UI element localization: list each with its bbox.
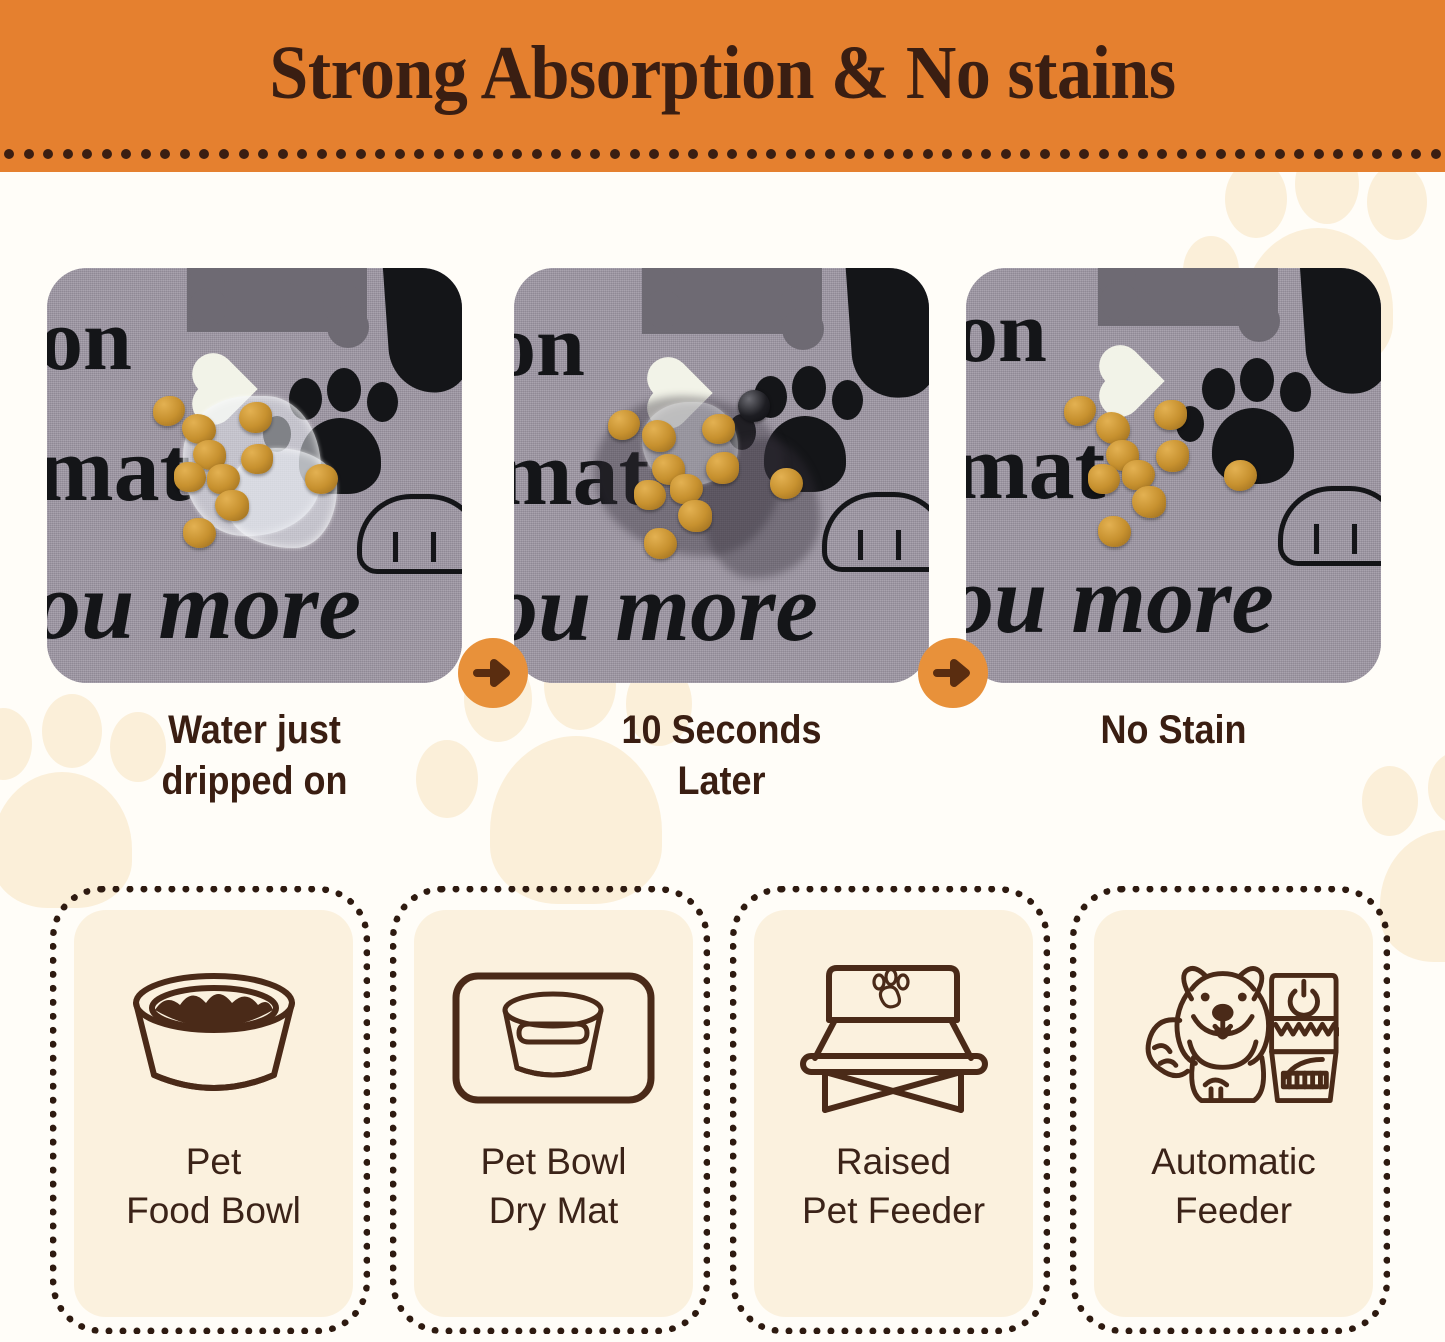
- header-divider-dot: [1411, 149, 1421, 159]
- header-divider-dot: [317, 149, 327, 159]
- header-divider-dot: [630, 149, 640, 159]
- header-divider-dot: [1060, 149, 1070, 159]
- header-divider-dot: [1392, 149, 1402, 159]
- header-divider-dot: [219, 149, 229, 159]
- header-divider-dot: [336, 149, 346, 159]
- kibble-piece: [1156, 440, 1189, 472]
- header-divider-dot: [473, 149, 483, 159]
- kibble-piece: [239, 402, 272, 433]
- step-arrow-icon: [458, 638, 528, 708]
- header-divider-dot: [1353, 149, 1363, 159]
- header-divider-dot: [571, 149, 581, 159]
- dog-with-feeder-icon: [1129, 952, 1339, 1124]
- header-divider-dot: [610, 149, 620, 159]
- header-divider-dot: [747, 149, 757, 159]
- header-divider-dot: [669, 149, 679, 159]
- header-divider-dot: [239, 149, 249, 159]
- header-divider-dot: [766, 149, 776, 159]
- kibble-piece: [1224, 460, 1257, 491]
- kibble-piece: [644, 528, 677, 559]
- kibble-piece: [1132, 486, 1166, 518]
- kibble-piece: [706, 452, 739, 484]
- feature-card-panel: Pet Food Bowl: [74, 910, 353, 1317]
- header-divider-dot: [1040, 149, 1050, 159]
- header-banner: Strong Absorption & No stains: [0, 0, 1445, 172]
- feature-card-label: Raised Pet Feeder: [760, 1138, 1028, 1236]
- feature-card-label: Automatic Feeder: [1100, 1138, 1368, 1236]
- header-divider-dot: [864, 149, 874, 159]
- header-divider-dot: [63, 149, 73, 159]
- header-divider-dot: [82, 149, 92, 159]
- header-divider-dot: [688, 149, 698, 159]
- header-divider-dot: [24, 149, 34, 159]
- feature-card-pet-bowl-dry-mat[interactable]: Pet Bowl Dry Mat: [390, 886, 710, 1334]
- header-divider-dot: [1372, 149, 1382, 159]
- header-divider-dot: [1177, 149, 1187, 159]
- mat-dog-foot-outline: [822, 478, 929, 566]
- mat-script-text: ou more: [47, 550, 361, 661]
- kibble-piece: [642, 420, 676, 452]
- bowl-on-mat-icon: [449, 952, 659, 1124]
- mat-bone-graphic: [642, 268, 822, 334]
- header-divider-dot: [454, 149, 464, 159]
- header-divider-dot: [805, 149, 815, 159]
- feature-card-panel: Pet Bowl Dry Mat: [414, 910, 693, 1317]
- feature-card-pet-food-bowl[interactable]: Pet Food Bowl: [50, 886, 370, 1334]
- header-dotted-divider: [0, 149, 1445, 161]
- compatible-products-section: Pet Food Bowl Pet Bowl Dry Mat: [0, 886, 1445, 1342]
- header-divider-dot: [4, 149, 14, 159]
- mat-word-mat: mat: [47, 416, 190, 522]
- mat-word-on: on: [966, 282, 1047, 383]
- mat-script-text: ou more: [966, 544, 1274, 655]
- header-divider-dot: [141, 149, 151, 159]
- mat-dog-foot-outline: [1278, 472, 1381, 560]
- mat-dog-foot-outline: [357, 480, 462, 568]
- header-divider-dot: [278, 149, 288, 159]
- header-divider-dot: [258, 149, 268, 159]
- header-divider-dot: [590, 149, 600, 159]
- header-divider-dot: [884, 149, 894, 159]
- header-divider-dot: [1138, 149, 1148, 159]
- header-divider-dot: [551, 149, 561, 159]
- absorption-comparison-section: on mat ou more: [0, 172, 1445, 872]
- header-divider-dot: [180, 149, 190, 159]
- header-divider-dot: [923, 149, 933, 159]
- header-divider-dot: [1255, 149, 1265, 159]
- header-divider-dot: [845, 149, 855, 159]
- header-divider-dot: [1275, 149, 1285, 159]
- header-divider-dot: [356, 149, 366, 159]
- header-divider-dot: [532, 149, 542, 159]
- header-divider-dot: [199, 149, 209, 159]
- power-button-icon: [1290, 981, 1317, 1015]
- header-divider-dot: [1314, 149, 1324, 159]
- header-divider-dot: [434, 149, 444, 159]
- kibble-piece: [770, 468, 803, 499]
- photo-caption-step-1: Water just dripped on: [68, 705, 442, 807]
- header-divider-dot: [1001, 149, 1011, 159]
- kibble-piece: [241, 444, 273, 474]
- header-divider-dot: [825, 149, 835, 159]
- header-divider-dot: [1020, 149, 1030, 159]
- feature-card-panel: Automatic Feeder: [1094, 910, 1373, 1317]
- header-divider-dot: [395, 149, 405, 159]
- header-divider-dot: [102, 149, 112, 159]
- comparison-photo-step-2: on mat ou more: [514, 268, 929, 683]
- header-divider-dot: [1333, 149, 1343, 159]
- kibble-piece: [1098, 516, 1131, 547]
- kibble-piece: [678, 500, 712, 532]
- header-divider-dot: [786, 149, 796, 159]
- header-divider-dot: [414, 149, 424, 159]
- header-divider-dot: [1196, 149, 1206, 159]
- header-divider-dot: [493, 149, 503, 159]
- photo-caption-step-2: 10 Seconds Later: [535, 705, 909, 807]
- header-divider-dot: [160, 149, 170, 159]
- header-divider-dot: [727, 149, 737, 159]
- feature-card-label: Pet Bowl Dry Mat: [420, 1138, 688, 1236]
- header-divider-dot: [649, 149, 659, 159]
- header-divider-dot: [121, 149, 131, 159]
- header-divider-dot: [1079, 149, 1089, 159]
- food-bowl-icon: [109, 952, 319, 1124]
- kibble-piece: [215, 490, 249, 521]
- mat-word-on: on: [514, 296, 585, 397]
- kibble-piece: [702, 414, 735, 444]
- header-divider-dot: [1235, 149, 1245, 159]
- comparison-photo-step-1: on mat ou more: [47, 268, 462, 683]
- step-arrow-icon: [918, 638, 988, 708]
- page-title: Strong Absorption & No stains: [58, 30, 1387, 117]
- header-divider-dot: [1216, 149, 1226, 159]
- feature-card-automatic-feeder[interactable]: Automatic Feeder: [1070, 886, 1390, 1334]
- header-divider-dot: [297, 149, 307, 159]
- header-divider-dot: [512, 149, 522, 159]
- water-droplet: [738, 390, 770, 422]
- header-divider-dot: [981, 149, 991, 159]
- header-divider-dot: [962, 149, 972, 159]
- header-divider-dot: [375, 149, 385, 159]
- mat-word-on: on: [47, 290, 132, 391]
- kibble-piece: [183, 518, 216, 548]
- header-divider-dot: [1294, 149, 1304, 159]
- kibble-piece: [1088, 464, 1120, 494]
- photo-caption-step-3: No Stain: [987, 705, 1361, 756]
- mat-bone-graphic: [187, 268, 367, 332]
- header-divider-dot: [43, 149, 53, 159]
- header-divider-dot: [708, 149, 718, 159]
- feature-card-raised-pet-feeder[interactable]: Raised Pet Feeder: [730, 886, 1050, 1334]
- header-divider-dot: [1157, 149, 1167, 159]
- feature-card-label: Pet Food Bowl: [80, 1138, 348, 1236]
- kibble-piece: [174, 462, 206, 492]
- kibble-piece: [305, 464, 338, 494]
- raised-feeder-icon: [789, 952, 999, 1124]
- header-divider-dot: [1431, 149, 1441, 159]
- feature-card-panel: Raised Pet Feeder: [754, 910, 1033, 1317]
- header-divider-dot: [1099, 149, 1109, 159]
- mat-word-mat: mat: [966, 414, 1105, 520]
- kibble-piece: [634, 480, 666, 510]
- mat-bone-graphic: [1098, 268, 1278, 326]
- kibble-piece: [1154, 400, 1187, 430]
- comparison-photo-step-3: on mat ou more: [966, 268, 1381, 683]
- header-divider-dot: [1118, 149, 1128, 159]
- header-divider-dot: [903, 149, 913, 159]
- header-divider-dot: [942, 149, 952, 159]
